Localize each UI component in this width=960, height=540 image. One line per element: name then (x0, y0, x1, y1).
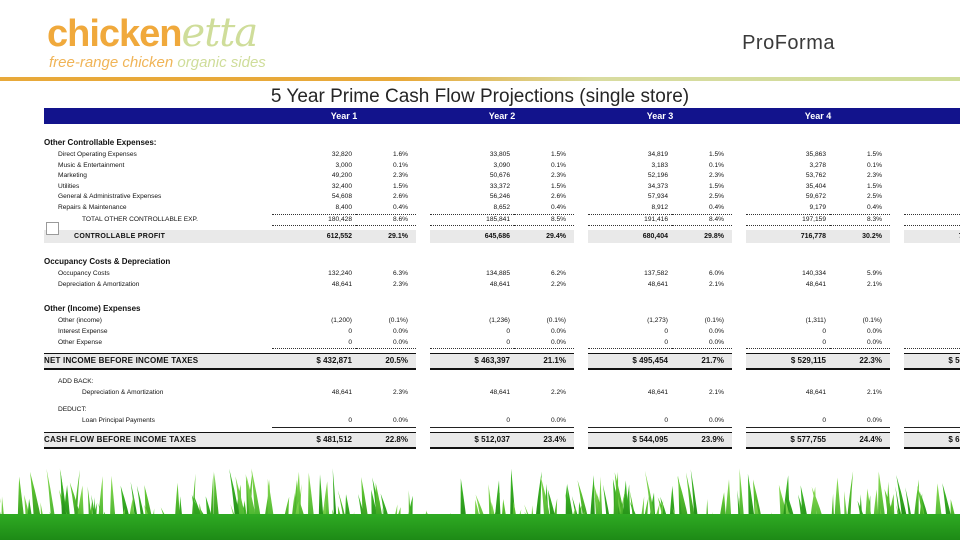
year-header-3: Year 3 (588, 108, 732, 124)
row-general-administrative-expenses-label: General & Administrative Expenses (44, 192, 272, 203)
page-title: 5 Year Prime Cash Flow Projections (sing… (0, 86, 960, 108)
column-gap (416, 192, 430, 203)
row-depreciation-amortization-pct-y2: 2.2% (514, 280, 574, 291)
row-addback-depreciation-amortization-pct-y4: 2.1% (830, 388, 890, 399)
row-other-income-pct-y1: (0.1%) (356, 316, 416, 327)
row-depreciation-amortization-label: Depreciation & Amortization (44, 280, 272, 291)
deduct-heading-row: DEDUCT: (44, 405, 960, 416)
year-header-row: Year 1Year 2Year 3Year 4Year 5 (44, 108, 960, 124)
row-utilities-amount-y4: 35,404 (746, 182, 830, 193)
row-total-other-controllable-exp-amount-y3: 191,416 (588, 214, 672, 226)
row-utilities-pct-y4: 1.5% (830, 182, 890, 193)
row-cash-flow-before-income-taxes-amount-y2: $ 512,037 (430, 432, 514, 448)
column-gap (890, 214, 904, 226)
row-depreciation-amortization-amount-y3: 48,641 (588, 280, 672, 291)
row-loan-principal-payments-amount-y3: 0 (588, 416, 672, 427)
row-general-administrative-expenses-amount-y4: 59,672 (746, 192, 830, 203)
row-utilities-amount-y5: 36,466 (904, 182, 960, 193)
logo-tagline: free-range chicken organic sides (49, 54, 266, 71)
row-marketing-amount-y4: 53,762 (746, 171, 830, 182)
column-gap (890, 316, 904, 327)
row-other-expense-amount-y4: 0 (746, 338, 830, 349)
column-gap (732, 316, 746, 327)
row-net-income-before-income-taxes-pct-y1: 20.5% (356, 354, 416, 370)
row-addback-depreciation-amortization-pct-y3: 2.1% (672, 388, 732, 399)
row-loan-principal-payments-amount-y2: 0 (430, 416, 514, 427)
row-loan-principal-payments-label: Loan Principal Payments (44, 416, 272, 427)
row-occupancy-costs-amount-y2: 134,885 (430, 269, 514, 280)
row-cash-flow-before-income-taxes-pct-y4: 24.4% (830, 432, 890, 448)
column-gap (890, 192, 904, 203)
row-direct-operating-expenses-label: Direct Operating Expenses (44, 150, 272, 161)
column-gap (416, 269, 430, 280)
row-net-income-before-income-taxes-amount-y3: $ 495,454 (588, 354, 672, 370)
row-occupancy-costs: Occupancy Costs132,2406.3%134,8856.2%137… (44, 269, 960, 280)
year-header-2: Year 2 (430, 108, 574, 124)
column-gap (890, 108, 904, 124)
spacer-row (44, 398, 960, 405)
row-repairs-maintenance-amount-y2: 8,652 (430, 203, 514, 214)
row-repairs-maintenance-amount-y5: 9,454 (904, 203, 960, 214)
tagline-part-1: free-range chicken (49, 54, 173, 71)
column-gap (890, 269, 904, 280)
row-occupancy-costs-amount-y3: 137,582 (588, 269, 672, 280)
row-general-administrative-expenses-pct-y2: 2.6% (514, 192, 574, 203)
row-total-other-controllable-exp-amount-y5: 203,073 (904, 214, 960, 226)
row-net-income-before-income-taxes-amount-y5: $ 564,451 (904, 354, 960, 370)
row-utilities-amount-y1: 32,400 (272, 182, 356, 193)
row-music-entertainment-amount-y3: 3,183 (588, 161, 672, 172)
row-total-other-controllable-exp-amount-y4: 197,159 (746, 214, 830, 226)
column-gap (732, 203, 746, 214)
row-other-expense-label: Other Expense (44, 338, 272, 349)
row-depreciation-amortization-pct-y4: 2.1% (830, 280, 890, 291)
column-gap (890, 203, 904, 214)
row-net-income-before-income-taxes: NET INCOME BEFORE INCOME TAXES$ 432,8712… (44, 354, 960, 370)
row-direct-operating-expenses-amount-y4: 35,863 (746, 150, 830, 161)
row-addback-depreciation-amortization-label: Depreciation & Amortization (44, 388, 272, 399)
row-other-income-pct-y2: (0.1%) (514, 316, 574, 327)
column-gap (732, 327, 746, 338)
row-other-expense-pct-y4: 0.0% (830, 338, 890, 349)
logo-word-chicken: chicken (47, 13, 182, 55)
row-direct-operating-expenses-pct-y2: 1.5% (514, 150, 574, 161)
row-other-expense-amount-y3: 0 (588, 338, 672, 349)
column-gap (416, 108, 430, 124)
column-gap (732, 150, 746, 161)
row-loan-principal-payments-amount-y5: 0 (904, 416, 960, 427)
financial-sheet: Year 1Year 2Year 3Year 4Year 5Other Cont… (44, 108, 916, 449)
row-interest-expense-pct-y2: 0.0% (514, 327, 574, 338)
row-occupancy-costs-pct-y3: 6.0% (672, 269, 732, 280)
row-controllable-profit-pct-y1: 29.1% (356, 230, 416, 243)
row-loan-principal-payments: Loan Principal Payments00.0%00.0%00.0%00… (44, 416, 960, 427)
row-net-income-before-income-taxes-amount-y1: $ 432,871 (272, 354, 356, 370)
column-gap (574, 230, 588, 243)
row-net-income-before-income-taxes-amount-y2: $ 463,397 (430, 354, 514, 370)
column-gap (890, 150, 904, 161)
column-gap (732, 432, 746, 448)
row-depreciation-amortization-amount-y5: 48,641 (904, 280, 960, 291)
row-depreciation-amortization: Depreciation & Amortization48,6412.3%48,… (44, 280, 960, 291)
row-controllable-profit-amount-y2: 645,686 (430, 230, 514, 243)
row-utilities-pct-y1: 1.5% (356, 182, 416, 193)
row-music-entertainment-pct-y4: 0.1% (830, 161, 890, 172)
year-header-1: Year 1 (272, 108, 416, 124)
row-interest-expense-amount-y1: 0 (272, 327, 356, 338)
row-controllable-profit-amount-y4: 716,778 (746, 230, 830, 243)
brand-logo: chickenetta free-range chicken organic s… (47, 14, 266, 71)
row-direct-operating-expenses-pct-y3: 1.5% (672, 150, 732, 161)
row-marketing: Marketing49,2002.3%50,6762.3%52,1962.3%5… (44, 171, 960, 182)
row-depreciation-amortization-pct-y1: 2.3% (356, 280, 416, 291)
column-gap (416, 214, 430, 226)
row-net-income-before-income-taxes-pct-y4: 22.3% (830, 354, 890, 370)
row-total-other-controllable-exp-label: TOTAL OTHER CONTROLLABLE EXP. (44, 214, 272, 226)
row-interest-expense-pct-y3: 0.0% (672, 327, 732, 338)
row-repairs-maintenance-amount-y3: 8,912 (588, 203, 672, 214)
column-gap (416, 416, 430, 427)
row-total-other-controllable-exp: TOTAL OTHER CONTROLLABLE EXP.180,4288.6%… (44, 214, 960, 226)
year-header-blank (44, 108, 272, 124)
section-heading-occupancy-costs-depreciation: Occupancy Costs & Depreciation (44, 250, 960, 269)
row-controllable-profit-amount-y1: 612,552 (272, 230, 356, 243)
row-utilities: Utilities32,4001.5%33,3721.5%34,3731.5%3… (44, 182, 960, 193)
row-occupancy-costs-pct-y4: 5.9% (830, 269, 890, 280)
section-heading-row: Occupancy Costs & Depreciation (44, 250, 960, 269)
spacer-row (44, 124, 960, 131)
section-heading-other-controllable-expenses: Other Controllable Expenses: (44, 131, 960, 150)
row-marketing-pct-y1: 2.3% (356, 171, 416, 182)
row-direct-operating-expenses-amount-y1: 32,820 (272, 150, 356, 161)
column-gap (574, 182, 588, 193)
row-marketing-pct-y2: 2.3% (514, 171, 574, 182)
column-gap (574, 161, 588, 172)
row-marketing-pct-y3: 2.3% (672, 171, 732, 182)
column-gap (416, 203, 430, 214)
row-cash-flow-before-income-taxes-pct-y2: 23.4% (514, 432, 574, 448)
column-gap (732, 388, 746, 399)
row-other-expense-pct-y1: 0.0% (356, 338, 416, 349)
row-other-expense-pct-y3: 0.0% (672, 338, 732, 349)
row-repairs-maintenance-pct-y1: 0.4% (356, 203, 416, 214)
column-gap (416, 354, 430, 370)
column-gap (732, 182, 746, 193)
row-addback-depreciation-amortization-pct-y1: 2.3% (356, 388, 416, 399)
row-controllable-profit-amount-y3: 680,404 (588, 230, 672, 243)
column-gap (416, 388, 430, 399)
row-addback-depreciation-amortization-amount-y2: 48,641 (430, 388, 514, 399)
row-utilities-pct-y3: 1.5% (672, 182, 732, 193)
document-type-label: ProForma (742, 32, 835, 55)
section-heading-row: Other Controllable Expenses: (44, 131, 960, 150)
column-gap (890, 327, 904, 338)
total-other-controllable-checkbox[interactable] (46, 222, 59, 235)
year-header-5: Year 5 (904, 108, 960, 124)
row-interest-expense-amount-y2: 0 (430, 327, 514, 338)
spacer-row (44, 243, 960, 250)
row-cash-flow-before-income-taxes-amount-y3: $ 544,095 (588, 432, 672, 448)
row-music-entertainment-pct-y3: 0.1% (672, 161, 732, 172)
spacer-row (44, 369, 960, 377)
column-gap (574, 150, 588, 161)
row-occupancy-costs-amount-y5: 143,141 (904, 269, 960, 280)
grass-footer-decoration (0, 448, 960, 540)
row-direct-operating-expenses: Direct Operating Expenses32,8201.6%33,80… (44, 150, 960, 161)
column-gap (416, 230, 430, 243)
row-other-income-amount-y2: (1,236) (430, 316, 514, 327)
row-interest-expense-amount-y4: 0 (746, 327, 830, 338)
row-interest-expense: Interest Expense00.0%00.0%00.0%00.0%00.0… (44, 327, 960, 338)
column-gap (890, 432, 904, 448)
row-cash-flow-before-income-taxes-pct-y3: 23.9% (672, 432, 732, 448)
row-marketing-amount-y1: 49,200 (272, 171, 356, 182)
column-gap (416, 432, 430, 448)
page-header: chickenetta free-range chicken organic s… (0, 0, 960, 80)
column-gap (574, 269, 588, 280)
column-gap (574, 327, 588, 338)
row-general-administrative-expenses-pct-y4: 2.5% (830, 192, 890, 203)
row-music-entertainment-amount-y2: 3,090 (430, 161, 514, 172)
row-repairs-maintenance-pct-y4: 0.4% (830, 203, 890, 214)
column-gap (890, 182, 904, 193)
column-gap (416, 338, 430, 349)
row-repairs-maintenance-pct-y2: 0.4% (514, 203, 574, 214)
addback-heading-row: ADD BACK: (44, 377, 960, 388)
row-general-administrative-expenses-pct-y1: 2.6% (356, 192, 416, 203)
row-loan-principal-payments-amount-y1: 0 (272, 416, 356, 427)
row-other-income-amount-y1: (1,200) (272, 316, 356, 327)
row-marketing-amount-y3: 52,196 (588, 171, 672, 182)
row-direct-operating-expenses-amount-y3: 34,819 (588, 150, 672, 161)
row-repairs-maintenance-pct-y3: 0.4% (672, 203, 732, 214)
row-occupancy-costs-amount-y4: 140,334 (746, 269, 830, 280)
row-other-income-amount-y3: (1,273) (588, 316, 672, 327)
row-music-entertainment-pct-y2: 0.1% (514, 161, 574, 172)
row-net-income-before-income-taxes-pct-y2: 21.1% (514, 354, 574, 370)
row-depreciation-amortization-amount-y4: 48,641 (746, 280, 830, 291)
column-gap (574, 214, 588, 226)
row-loan-principal-payments-pct-y2: 0.0% (514, 416, 574, 427)
column-gap (732, 338, 746, 349)
row-general-administrative-expenses-amount-y1: 54,608 (272, 192, 356, 203)
row-total-other-controllable-exp-amount-y2: 185,841 (430, 214, 514, 226)
row-cash-flow-before-income-taxes-pct-y1: 22.8% (356, 432, 416, 448)
row-repairs-maintenance-amount-y4: 9,179 (746, 203, 830, 214)
column-gap (574, 203, 588, 214)
row-total-other-controllable-exp-amount-y1: 180,428 (272, 214, 356, 226)
column-gap (890, 230, 904, 243)
column-gap (416, 327, 430, 338)
column-gap (574, 316, 588, 327)
row-total-other-controllable-exp-pct-y2: 8.5% (514, 214, 574, 226)
row-loan-principal-payments-pct-y3: 0.0% (672, 416, 732, 427)
row-controllable-profit-pct-y2: 29.4% (514, 230, 574, 243)
column-gap (574, 354, 588, 370)
row-net-income-before-income-taxes-label: NET INCOME BEFORE INCOME TAXES (44, 354, 272, 370)
column-gap (732, 108, 746, 124)
column-gap (732, 192, 746, 203)
row-direct-operating-expenses-amount-y5: 36,939 (904, 150, 960, 161)
row-loan-principal-payments-pct-y1: 0.0% (356, 416, 416, 427)
row-direct-operating-expenses-pct-y4: 1.5% (830, 150, 890, 161)
row-cash-flow-before-income-taxes-amount-y1: $ 481,512 (272, 432, 356, 448)
row-general-administrative-expenses-amount-y2: 56,246 (430, 192, 514, 203)
row-utilities-pct-y2: 1.5% (514, 182, 574, 193)
spacer-row (44, 290, 960, 297)
row-utilities-label: Utilities (44, 182, 272, 193)
column-gap (732, 416, 746, 427)
section-heading-other-income-expenses: Other (Income) Expenses (44, 297, 960, 316)
row-other-expense-amount-y5: 0 (904, 338, 960, 349)
row-addback-depreciation-amortization-amount-y5: 48,641 (904, 388, 960, 399)
column-gap (574, 416, 588, 427)
column-gap (574, 280, 588, 291)
row-interest-expense-amount-y3: 0 (588, 327, 672, 338)
row-interest-expense-amount-y5: 0 (904, 327, 960, 338)
column-gap (732, 171, 746, 182)
row-loan-principal-payments-pct-y4: 0.0% (830, 416, 890, 427)
row-marketing-amount-y5: 55,375 (904, 171, 960, 182)
row-marketing-label: Marketing (44, 171, 272, 182)
row-cash-flow-before-income-taxes-label: CASH FLOW BEFORE INCOME TAXES (44, 432, 272, 448)
row-other-expense-amount-y1: 0 (272, 338, 356, 349)
row-total-other-controllable-exp-pct-y4: 8.3% (830, 214, 890, 226)
row-direct-operating-expenses-pct-y1: 1.6% (356, 150, 416, 161)
row-other-expense-pct-y2: 0.0% (514, 338, 574, 349)
row-repairs-maintenance: Repairs & Maintenance8,4000.4%8,6520.4%8… (44, 203, 960, 214)
tagline-part-2: organic sides (177, 54, 265, 71)
row-utilities-amount-y2: 33,372 (430, 182, 514, 193)
row-music-entertainment: Music & Entertainment3,0000.1%3,0900.1%3… (44, 161, 960, 172)
row-repairs-maintenance-label: Repairs & Maintenance (44, 203, 272, 214)
column-gap (732, 214, 746, 226)
row-depreciation-amortization-amount-y1: 48,641 (272, 280, 356, 291)
column-gap (890, 354, 904, 370)
row-cash-flow-before-income-taxes: CASH FLOW BEFORE INCOME TAXES$ 481,51222… (44, 432, 960, 448)
row-repairs-maintenance-amount-y1: 8,400 (272, 203, 356, 214)
row-total-other-controllable-exp-pct-y3: 8.4% (672, 214, 732, 226)
column-gap (416, 171, 430, 182)
row-marketing-pct-y4: 2.3% (830, 171, 890, 182)
row-addback-depreciation-amortization: Depreciation & Amortization48,6412.3%48,… (44, 388, 960, 399)
row-total-other-controllable-exp-pct-y1: 8.6% (356, 214, 416, 226)
column-gap (416, 161, 430, 172)
row-music-entertainment-amount-y5: 3,377 (904, 161, 960, 172)
row-controllable-profit-label: CONTROLLABLE PROFIT (44, 230, 272, 243)
row-other-expense: Other Expense00.0%00.0%00.0%00.0%00.0% (44, 338, 960, 349)
row-other-expense-amount-y2: 0 (430, 338, 514, 349)
row-loan-principal-payments-amount-y4: 0 (746, 416, 830, 427)
row-controllable-profit: CONTROLLABLE PROFIT612,55229.1%645,68629… (44, 230, 960, 243)
row-controllable-profit-amount-y5: 754,881 (904, 230, 960, 243)
row-marketing-amount-y2: 50,676 (430, 171, 514, 182)
column-gap (732, 269, 746, 280)
column-gap (574, 171, 588, 182)
row-general-administrative-expenses: General & Administrative Expenses54,6082… (44, 192, 960, 203)
row-occupancy-costs-amount-y1: 132,240 (272, 269, 356, 280)
row-controllable-profit-pct-y4: 30.2% (830, 230, 890, 243)
row-other-income: Other (income)(1,200)(0.1%)(1,236)(0.1%)… (44, 316, 960, 327)
row-occupancy-costs-label: Occupancy Costs (44, 269, 272, 280)
row-other-income-amount-y5: (1,351) (904, 316, 960, 327)
column-gap (890, 416, 904, 427)
logo-wordmark: chickenetta (47, 14, 266, 53)
column-gap (890, 161, 904, 172)
row-depreciation-amortization-pct-y3: 2.1% (672, 280, 732, 291)
row-music-entertainment-label: Music & Entertainment (44, 161, 272, 172)
column-gap (574, 388, 588, 399)
row-general-administrative-expenses-amount-y5: 61,462 (904, 192, 960, 203)
row-direct-operating-expenses-amount-y2: 33,805 (430, 150, 514, 161)
column-gap (732, 230, 746, 243)
row-other-income-pct-y4: (0.1%) (830, 316, 890, 327)
deduct-heading: DEDUCT: (44, 405, 960, 416)
column-gap (574, 108, 588, 124)
row-controllable-profit-pct-y3: 29.8% (672, 230, 732, 243)
row-general-administrative-expenses-pct-y3: 2.5% (672, 192, 732, 203)
row-other-income-pct-y3: (0.1%) (672, 316, 732, 327)
grass-base-strip (0, 514, 960, 540)
row-net-income-before-income-taxes-pct-y3: 21.7% (672, 354, 732, 370)
column-gap (416, 280, 430, 291)
section-heading-row: Other (Income) Expenses (44, 297, 960, 316)
column-gap (732, 161, 746, 172)
column-gap (416, 182, 430, 193)
row-occupancy-costs-pct-y1: 6.3% (356, 269, 416, 280)
row-interest-expense-pct-y4: 0.0% (830, 327, 890, 338)
row-other-income-label: Other (income) (44, 316, 272, 327)
column-gap (890, 280, 904, 291)
row-occupancy-costs-pct-y2: 6.2% (514, 269, 574, 280)
row-addback-depreciation-amortization-amount-y1: 48,641 (272, 388, 356, 399)
column-gap (890, 338, 904, 349)
row-utilities-amount-y3: 34,373 (588, 182, 672, 193)
column-gap (890, 171, 904, 182)
column-gap (732, 354, 746, 370)
column-gap (574, 432, 588, 448)
row-addback-depreciation-amortization-amount-y3: 48,641 (588, 388, 672, 399)
row-addback-depreciation-amortization-amount-y4: 48,641 (746, 388, 830, 399)
column-gap (890, 388, 904, 399)
row-music-entertainment-pct-y1: 0.1% (356, 161, 416, 172)
row-interest-expense-pct-y1: 0.0% (356, 327, 416, 338)
row-interest-expense-label: Interest Expense (44, 327, 272, 338)
column-gap (574, 192, 588, 203)
row-addback-depreciation-amortization-pct-y2: 2.2% (514, 388, 574, 399)
row-music-entertainment-amount-y1: 3,000 (272, 161, 356, 172)
logo-word-etta: etta (182, 10, 258, 56)
cash-flow-table: Year 1Year 2Year 3Year 4Year 5Other Cont… (44, 108, 960, 449)
row-other-income-amount-y4: (1,311) (746, 316, 830, 327)
header-divider-rule (0, 77, 960, 81)
column-gap (416, 150, 430, 161)
row-net-income-before-income-taxes-amount-y4: $ 529,115 (746, 354, 830, 370)
column-gap (732, 280, 746, 291)
row-general-administrative-expenses-amount-y3: 57,934 (588, 192, 672, 203)
row-cash-flow-before-income-taxes-amount-y4: $ 577,755 (746, 432, 830, 448)
column-gap (416, 316, 430, 327)
row-depreciation-amortization-amount-y2: 48,641 (430, 280, 514, 291)
row-cash-flow-before-income-taxes-amount-y5: $ 613,091 (904, 432, 960, 448)
year-header-4: Year 4 (746, 108, 890, 124)
row-music-entertainment-amount-y4: 3,278 (746, 161, 830, 172)
column-gap (574, 338, 588, 349)
addback-heading: ADD BACK: (44, 377, 960, 388)
